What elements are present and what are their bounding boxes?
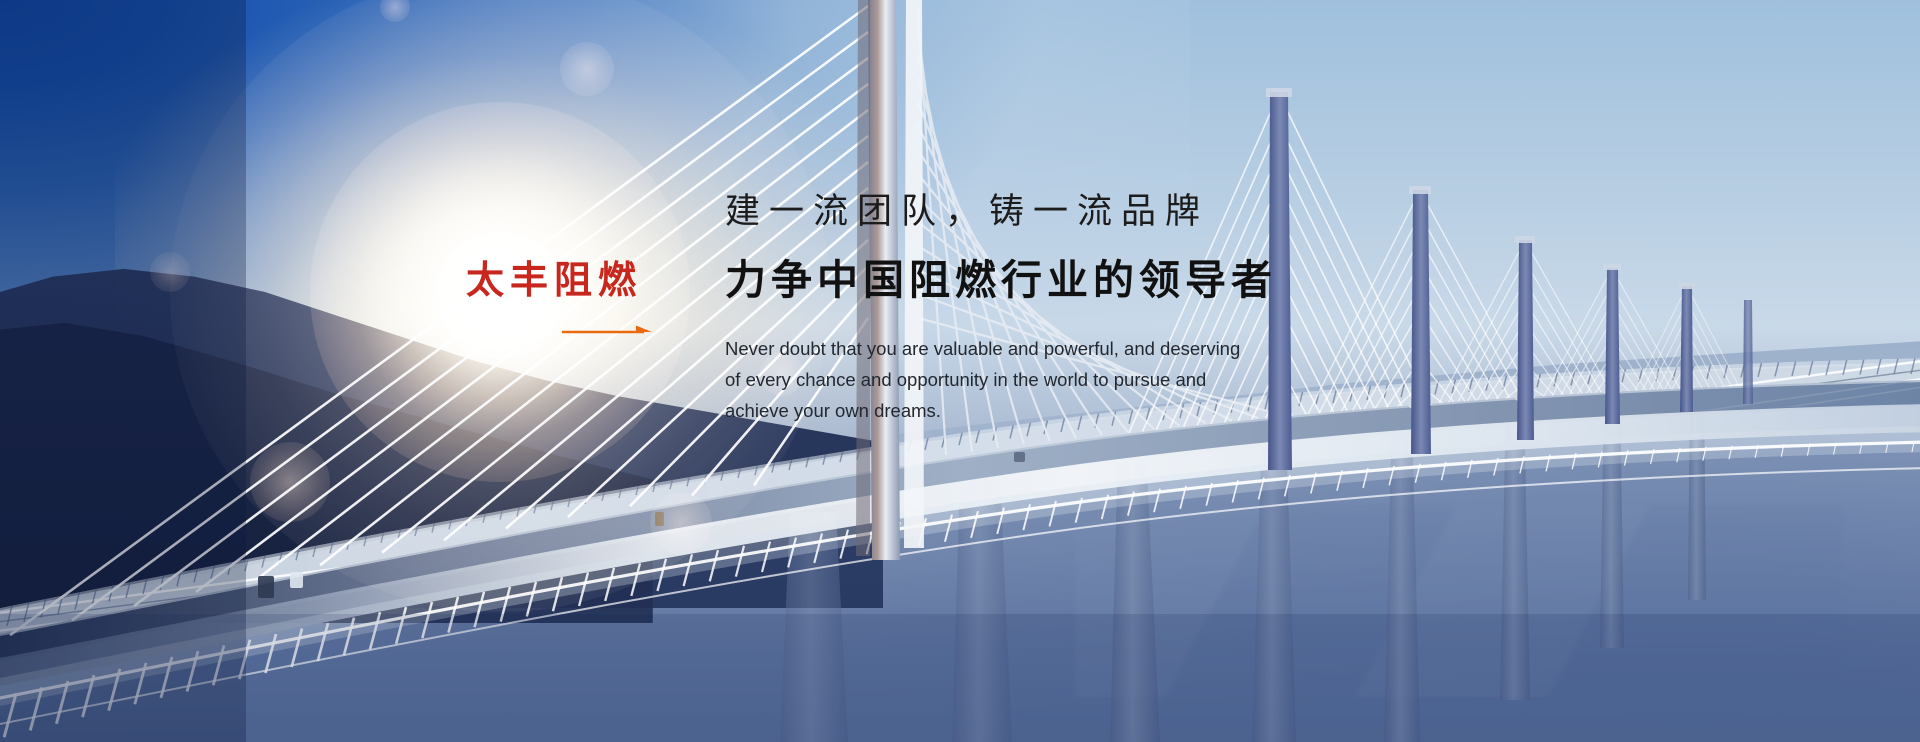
right-arrow-icon: [562, 324, 654, 338]
brand-logo: 太丰阻燃: [466, 262, 666, 300]
headline-secondary: 力争中国阻燃行业的领导者: [725, 255, 1345, 306]
headline-primary: 建一流团队，铸一流品牌: [725, 188, 1345, 235]
brand-logo-text: 太丰阻燃: [466, 262, 666, 300]
banner-copy: 建一流团队，铸一流品牌 力争中国阻燃行业的领导者 Never doubt tha…: [725, 188, 1345, 426]
subcopy-line-1: Never doubt that you are valuable and po…: [725, 333, 1305, 364]
subcopy-line-3: achieve your own dreams.: [725, 395, 1305, 426]
hero-banner: 太丰阻燃 建一流团队，铸一流品牌 力争中国阻燃行业的领导者 Never doub…: [0, 0, 1920, 742]
banner-content: 太丰阻燃 建一流团队，铸一流品牌 力争中国阻燃行业的领导者 Never doub…: [0, 0, 1920, 742]
subcopy-paragraph: Never doubt that you are valuable and po…: [725, 333, 1305, 426]
subcopy-line-2: of every chance and opportunity in the w…: [725, 364, 1305, 395]
